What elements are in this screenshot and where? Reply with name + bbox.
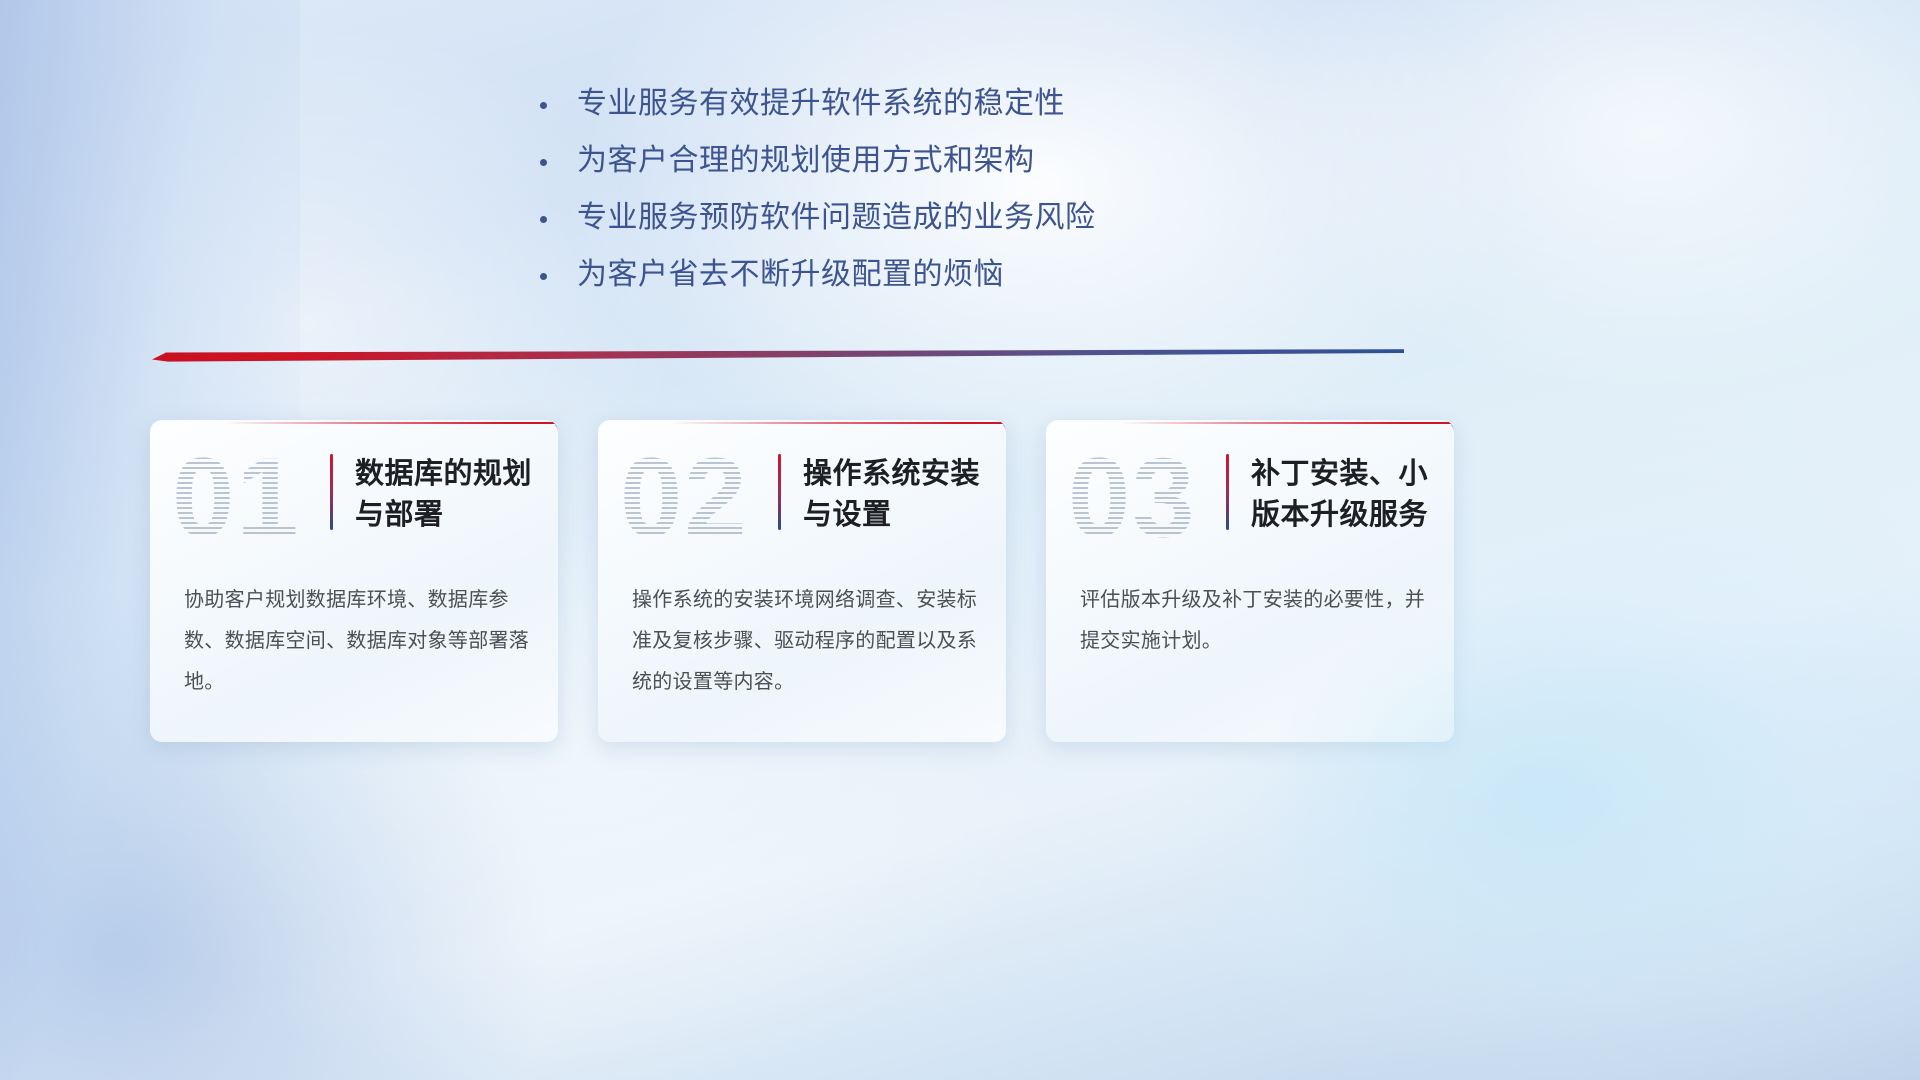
- bullet-text: 为客户合理的规划使用方式和架构: [577, 143, 1035, 179]
- card-title: 数据库的规划与部署: [355, 454, 545, 536]
- card-content: 03 补丁安装、小版本升级服务 评估版本升级及补丁安装的必要性，并提交实施计划。: [1046, 420, 1454, 742]
- card-body-text: 评估版本升级及补丁安装的必要性，并提交实施计划。: [1080, 580, 1426, 662]
- title-accent-bar: [330, 454, 333, 530]
- card-content: 01 数据库的规划与部署 协助客户规划数据库环境、数据库参数、数据库空间、数据库…: [150, 420, 558, 742]
- list-item: 为客户合理的规划使用方式和架构: [540, 143, 1180, 179]
- title-accent-bar: [1226, 454, 1229, 530]
- list-item: 专业服务预防软件问题造成的业务风险: [540, 200, 1180, 236]
- card-title-group: 补丁安装、小版本升级服务: [1226, 454, 1441, 536]
- list-item: 为客户省去不断升级配置的烦恼: [540, 257, 1180, 293]
- bullet-dot-icon: [540, 102, 547, 109]
- card-title-group: 数据库的规划与部署: [330, 454, 545, 536]
- benefits-bullet-list: 专业服务有效提升软件系统的稳定性 为客户合理的规划使用方式和架构 专业服务预防软…: [540, 86, 1180, 314]
- card-content: 02 操作系统安装与设置 操作系统的安装环境网络调查、安装标准及复核步骤、驱动程…: [598, 420, 1006, 742]
- card-title-group: 操作系统安装与设置: [778, 454, 993, 536]
- bullet-text: 为客户省去不断升级配置的烦恼: [577, 257, 1004, 293]
- service-card-03[interactable]: 03 补丁安装、小版本升级服务 评估版本升级及补丁安装的必要性，并提交实施计划。: [1046, 420, 1454, 742]
- card-number-watermark: 02: [620, 442, 749, 554]
- card-number-watermark: 03: [1068, 442, 1197, 554]
- service-card-02[interactable]: 02 操作系统安装与设置 操作系统的安装环境网络调查、安装标准及复核步骤、驱动程…: [598, 420, 1006, 742]
- service-card-01[interactable]: 01 数据库的规划与部署 协助客户规划数据库环境、数据库参数、数据库空间、数据库…: [150, 420, 558, 742]
- bullet-dot-icon: [540, 273, 547, 280]
- bullet-text: 专业服务预防软件问题造成的业务风险: [577, 200, 1096, 236]
- bullet-dot-icon: [540, 159, 547, 166]
- service-card-row: 01 数据库的规划与部署 协助客户规划数据库环境、数据库参数、数据库空间、数据库…: [150, 420, 1770, 745]
- card-number-watermark: 01: [172, 442, 301, 554]
- slide-canvas: 专业服务有效提升软件系统的稳定性 为客户合理的规划使用方式和架构 专业服务预防软…: [0, 0, 1920, 1080]
- section-divider: [152, 349, 1404, 362]
- card-body-text: 协助客户规划数据库环境、数据库参数、数据库空间、数据库对象等部署落地。: [184, 580, 530, 703]
- title-accent-bar: [778, 454, 781, 530]
- bullet-dot-icon: [540, 216, 547, 223]
- card-body-text: 操作系统的安装环境网络调查、安装标准及复核步骤、驱动程序的配置以及系统的设置等内…: [632, 580, 978, 703]
- list-item: 专业服务有效提升软件系统的稳定性: [540, 86, 1180, 122]
- card-title: 操作系统安装与设置: [803, 454, 993, 536]
- card-title: 补丁安装、小版本升级服务: [1251, 454, 1441, 536]
- bullet-text: 专业服务有效提升软件系统的稳定性: [577, 86, 1065, 122]
